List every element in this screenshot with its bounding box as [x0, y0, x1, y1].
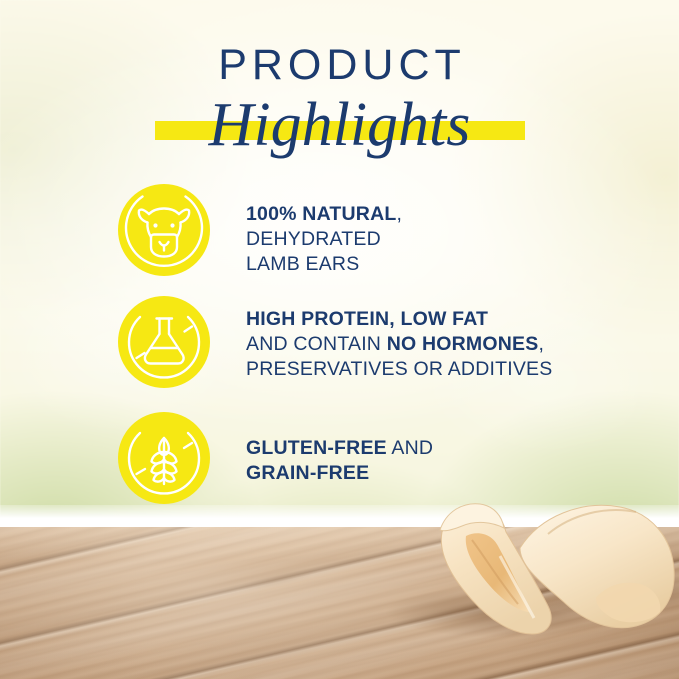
no-chemicals-flask-icon [118, 296, 210, 388]
wooden-floor-photo [0, 527, 679, 679]
product-highlights-poster: PRODUCT Highlights [0, 0, 679, 679]
heading-highlights-wrap: Highlights [0, 89, 679, 161]
page-title-product: PRODUCT [5, 44, 679, 87]
highlight-item-no-hormones: HIGH PROTEIN, LOW FAT AND CONTAIN NO HOR… [118, 296, 552, 388]
no-grain-wheat-icon [118, 412, 210, 504]
highlight-text-no-hormones: HIGH PROTEIN, LOW FAT AND CONTAIN NO HOR… [246, 296, 552, 382]
lamb-head-icon [118, 184, 210, 276]
floor-lighting [0, 527, 679, 679]
page-title-highlights: Highlights [0, 89, 679, 161]
highlight-item-natural: 100% NATURAL, DEHYDRATED LAMB EARS [118, 184, 402, 277]
highlight-item-gluten-free: GLUTEN-FREE AND GRAIN-FREE [118, 412, 433, 504]
heading-block: PRODUCT Highlights [0, 44, 679, 161]
highlight-text-gluten-free: GLUTEN-FREE AND GRAIN-FREE [246, 412, 433, 486]
highlight-text-natural: 100% NATURAL, DEHYDRATED LAMB EARS [246, 184, 402, 277]
white-divider-band [0, 505, 679, 529]
